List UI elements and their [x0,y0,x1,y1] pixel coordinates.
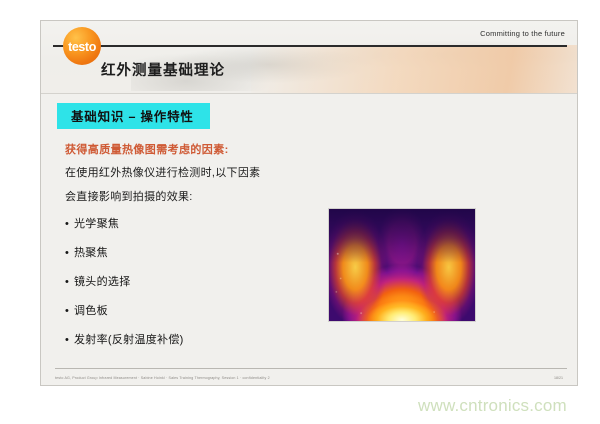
bullet-marker-icon: • [65,218,74,230]
bullet-label: 镜头的选择 [74,276,131,288]
content-paragraph-1: 在使用红外热像仪进行检测时,以下因素 [65,168,345,180]
brand-tagline: Committing to the future [480,29,565,38]
presentation-slide: Committing to the future testo 红外测量基础理论 … [40,20,578,386]
slide-header: Committing to the future testo 红外测量基础理论 [41,21,577,93]
list-item: •热聚焦 [65,244,345,260]
list-item: •调色板 [65,302,345,318]
site-watermark: www.cntronics.com [418,396,567,416]
bullet-label: 发射率(反射温度补偿) [74,334,184,346]
logo-wordmark: testo [63,40,101,54]
content-lead-heading: 获得高质量热像图需考虑的因素: [65,141,345,157]
bullet-marker-icon: • [65,305,74,317]
list-item: •镜头的选择 [65,273,345,289]
content-paragraph-2: 会直接影响到拍摄的效果: [65,192,345,204]
list-item: •光学聚焦 [65,215,345,231]
bullet-marker-icon: • [65,276,74,288]
bullet-label: 调色板 [74,305,108,317]
thermal-speckle-layer [329,209,475,321]
thermal-image [329,209,475,321]
bullet-label: 光学聚焦 [74,218,119,230]
header-warm-gradient [251,45,577,93]
footer-page-number: 18/21 [554,376,563,380]
list-item: •发射率(反射温度补偿) [65,331,345,347]
slide-content: 获得高质量热像图需考虑的因素: 在使用红外热像仪进行检测时,以下因素 会直接影响… [65,141,345,360]
factor-bullet-list: •光学聚焦 •热聚焦 •镜头的选择 •调色板 •发射率(反射温度补偿) [65,215,345,347]
header-divider-rule [53,45,567,47]
testo-logo: testo [63,27,101,65]
slide-title: 红外测量基础理论 [101,59,225,80]
footer-text: testo AG, Product Group Infrared Measure… [55,376,270,380]
section-banner: 基础知识 – 操作特性 [57,103,210,129]
footer-divider-rule [55,368,567,369]
bullet-marker-icon: • [65,334,74,346]
bullet-marker-icon: • [65,247,74,259]
bullet-label: 热聚焦 [74,247,108,259]
